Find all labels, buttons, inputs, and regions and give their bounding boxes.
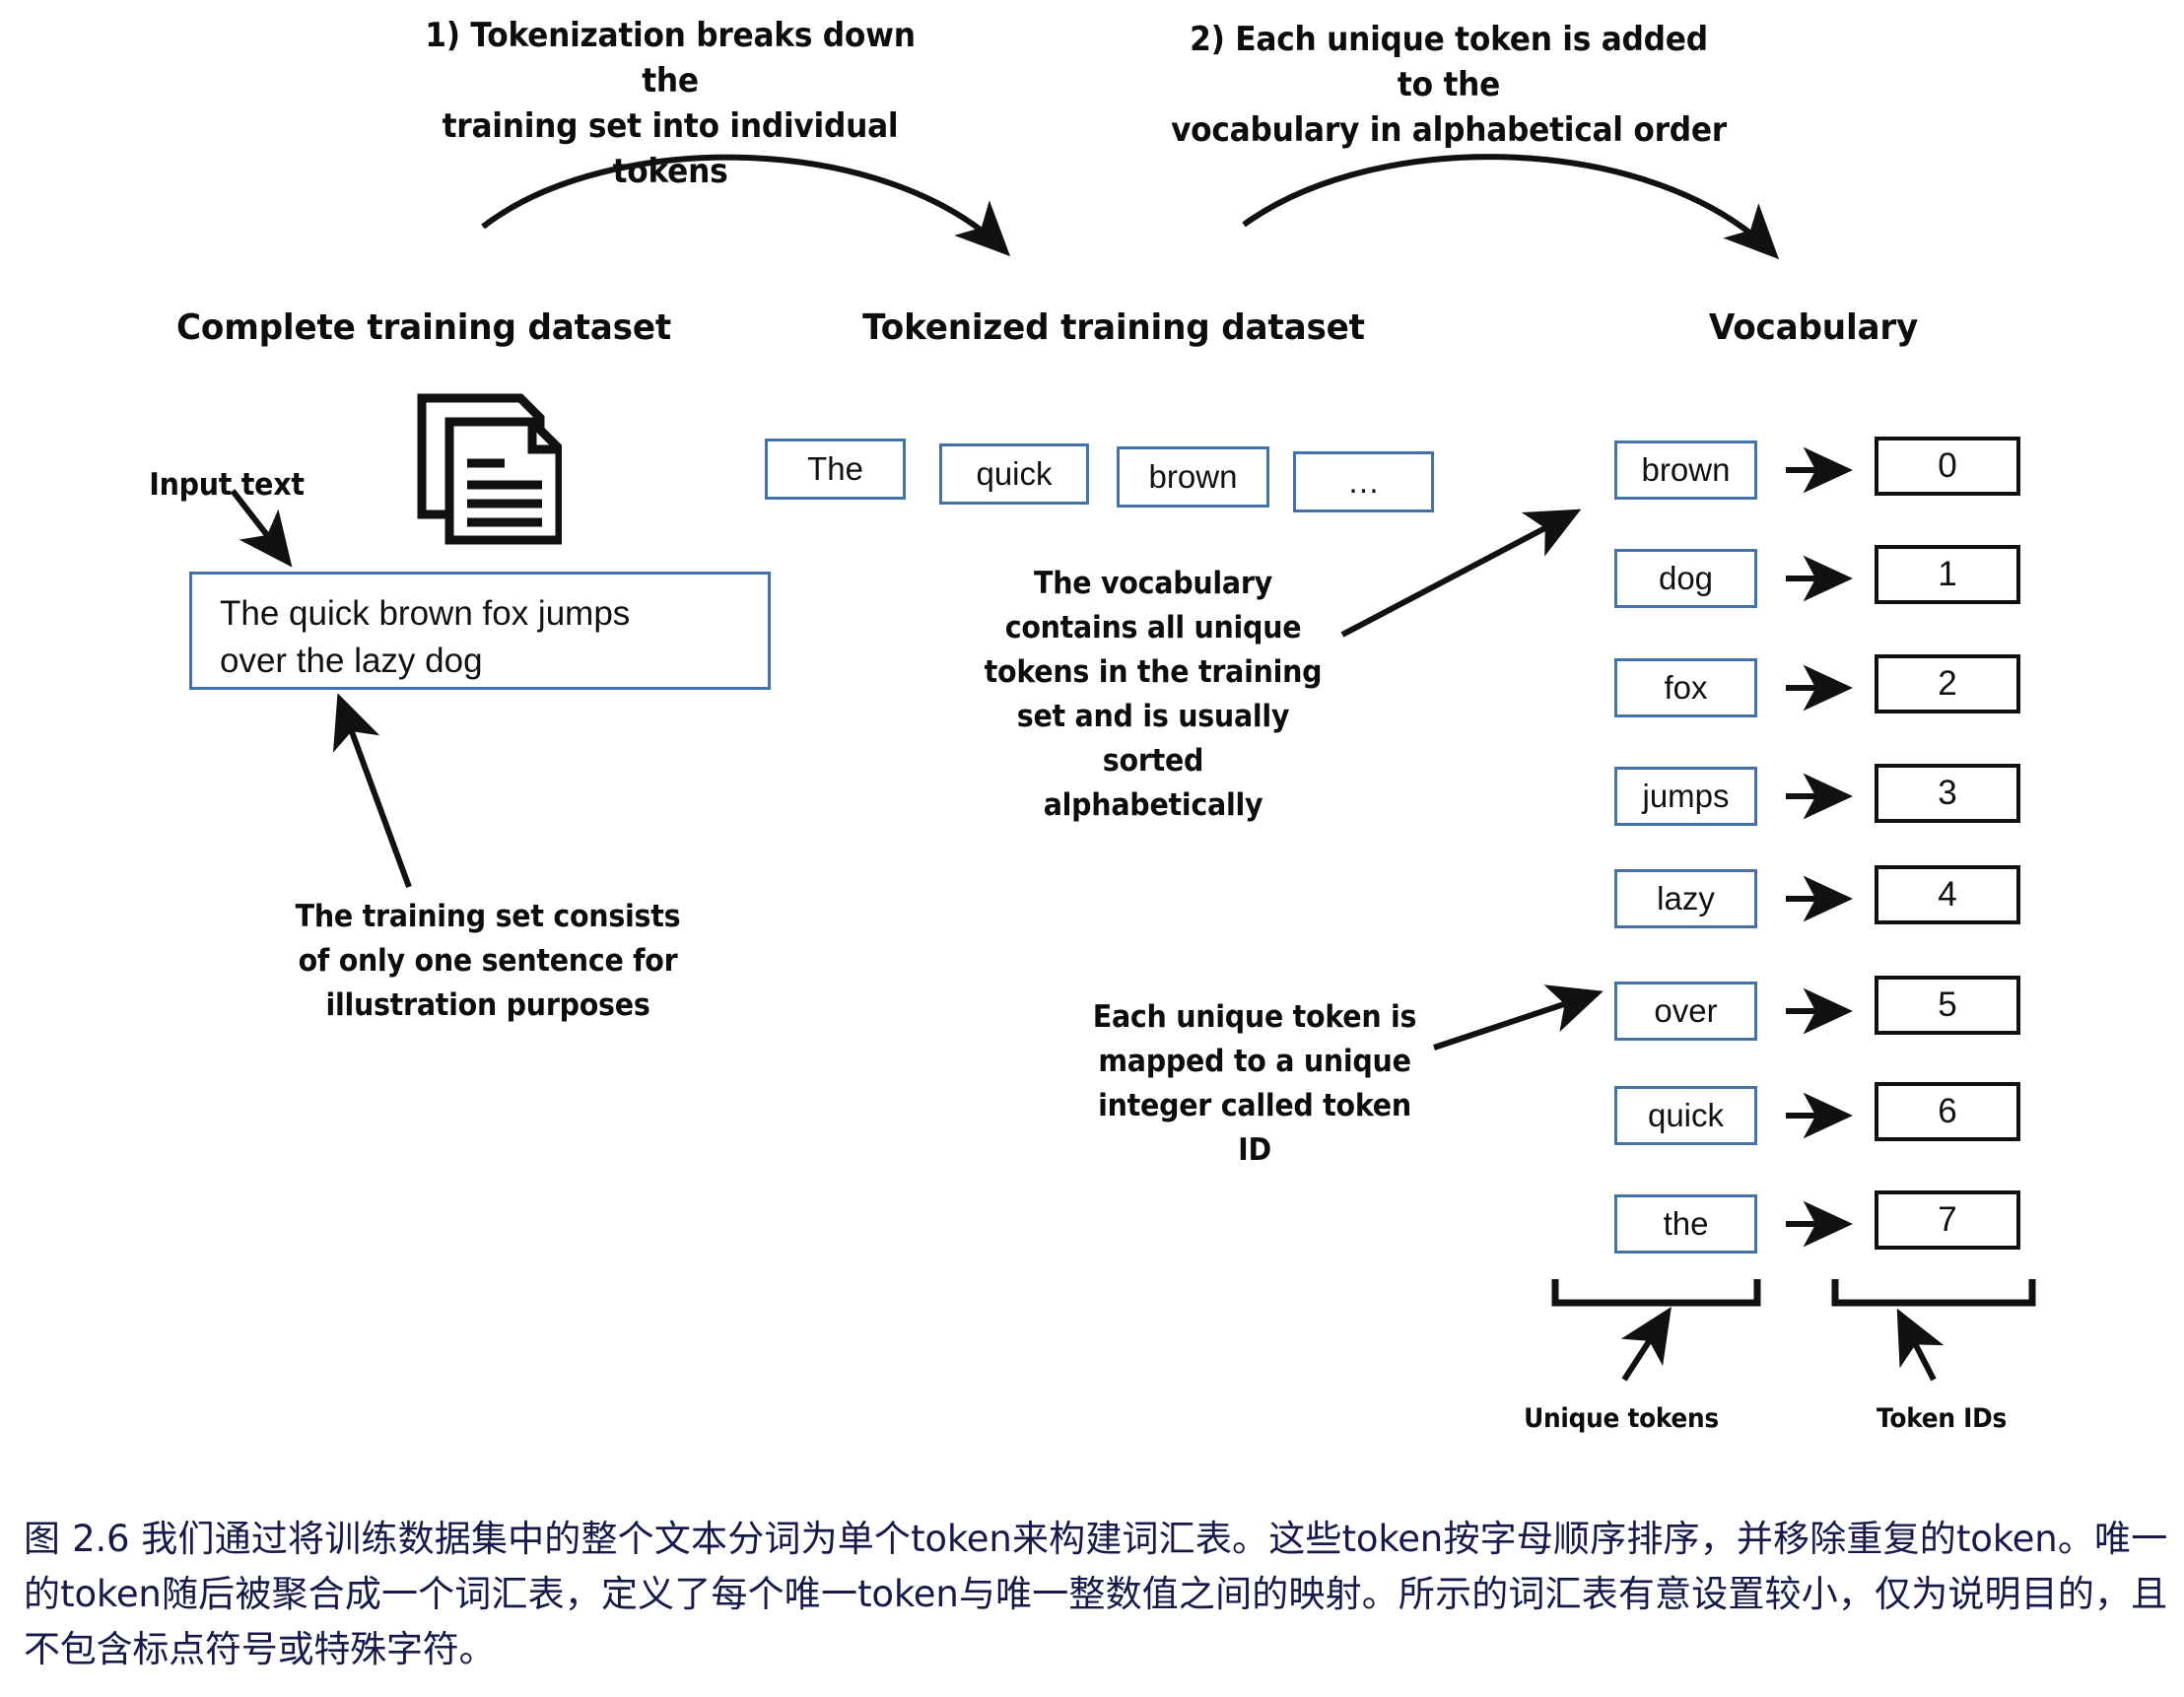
vocab-token-label: dog	[1659, 560, 1713, 597]
token-chip-label: The	[807, 450, 863, 488]
figure-canvas: 1) Tokenization breaks down the training…	[0, 0, 2184, 1697]
token-id-box[interactable]: 7	[1875, 1190, 2020, 1250]
arrow-tokenid-note-to-over	[1434, 993, 1597, 1048]
arrow-vocab-note-to-brown	[1342, 512, 1575, 635]
token-ids-brace-label: Token IDs	[1828, 1399, 2055, 1438]
vocabulary-explanation-note: The vocabulary contains all unique token…	[963, 562, 1343, 828]
vocab-token-label: the	[1664, 1205, 1709, 1243]
token-chip[interactable]: quick	[939, 443, 1089, 505]
vocab-token-box[interactable]: jumps	[1614, 767, 1757, 826]
vocab-token-box[interactable]: lazy	[1614, 869, 1757, 928]
column-title-complete-dataset: Complete training dataset	[153, 307, 696, 348]
column-title-tokenized-dataset: Tokenized training dataset	[833, 307, 1395, 348]
token-id-value: 3	[1938, 774, 1956, 813]
token-id-value: 4	[1938, 875, 1956, 915]
token-id-value: 6	[1938, 1092, 1956, 1131]
vocab-token-box[interactable]: the	[1614, 1194, 1757, 1254]
step-2-heading: 2) Each unique token is added to the voc…	[1168, 18, 1730, 154]
token-chip-label: brown	[1149, 458, 1238, 496]
column-title-vocabulary: Vocabulary	[1599, 307, 2029, 348]
token-chip-label: …	[1347, 463, 1380, 501]
unique-tokens-brace-label: Unique tokens	[1499, 1399, 1743, 1438]
arrow-unique-tokens-label	[1624, 1313, 1668, 1380]
token-id-box[interactable]: 4	[1875, 865, 2020, 924]
documents-stack-icon	[414, 392, 562, 545]
step-1-heading: 1) Tokenization breaks down the training…	[416, 14, 923, 195]
brace-token-ids	[1835, 1279, 2032, 1303]
token-id-value: 7	[1938, 1200, 1956, 1240]
vocab-token-label: brown	[1642, 451, 1731, 489]
input-text-value: The quick brown fox jumps over the lazy …	[220, 594, 630, 680]
brace-unique-tokens	[1555, 1279, 1757, 1303]
token-id-box[interactable]: 0	[1875, 437, 2020, 496]
arrow-token-ids-brace	[1900, 1315, 1934, 1380]
vocab-token-label: fox	[1664, 669, 1707, 707]
token-id-value: 2	[1938, 664, 1956, 704]
token-id-box[interactable]: 3	[1875, 764, 2020, 823]
token-chip-ellipsis[interactable]: …	[1293, 451, 1434, 512]
training-set-note: The training set consists of only one se…	[266, 895, 711, 1028]
curved-arrow-step-2	[1244, 157, 1774, 254]
vocab-token-box[interactable]: dog	[1614, 549, 1757, 608]
vocab-token-label: lazy	[1657, 880, 1715, 917]
input-text-box[interactable]: The quick brown fox jumps over the lazy …	[189, 572, 771, 690]
vocab-token-label: quick	[1648, 1097, 1724, 1134]
token-id-box[interactable]: 1	[1875, 545, 2020, 604]
token-id-value: 5	[1938, 985, 1956, 1025]
token-id-box[interactable]: 2	[1875, 654, 2020, 713]
vocab-token-box[interactable]: fox	[1614, 658, 1757, 717]
token-chip[interactable]: brown	[1117, 446, 1269, 508]
input-text-label: Input text	[118, 463, 336, 508]
arrow-note-to-input-box	[340, 700, 409, 887]
token-id-box[interactable]: 5	[1875, 976, 2020, 1035]
token-chip-label: quick	[976, 455, 1052, 493]
vocab-token-box[interactable]: quick	[1614, 1086, 1757, 1145]
vocab-token-box[interactable]: brown	[1614, 441, 1757, 500]
connector-arrows-layer	[0, 0, 2184, 1697]
vocab-token-label: jumps	[1642, 778, 1729, 815]
token-id-explanation-note: Each unique token is mapped to a unique …	[1078, 995, 1432, 1173]
token-chip[interactable]: The	[765, 439, 906, 500]
token-id-value: 0	[1938, 446, 1956, 486]
figure-caption: 图 2.6 我们通过将训练数据集中的整个文本分词为单个token来构建词汇表。这…	[24, 1512, 2167, 1678]
vocab-token-box[interactable]: over	[1614, 982, 1757, 1041]
token-id-value: 1	[1938, 555, 1956, 594]
vocab-token-label: over	[1654, 992, 1717, 1030]
token-id-box[interactable]: 6	[1875, 1082, 2020, 1141]
